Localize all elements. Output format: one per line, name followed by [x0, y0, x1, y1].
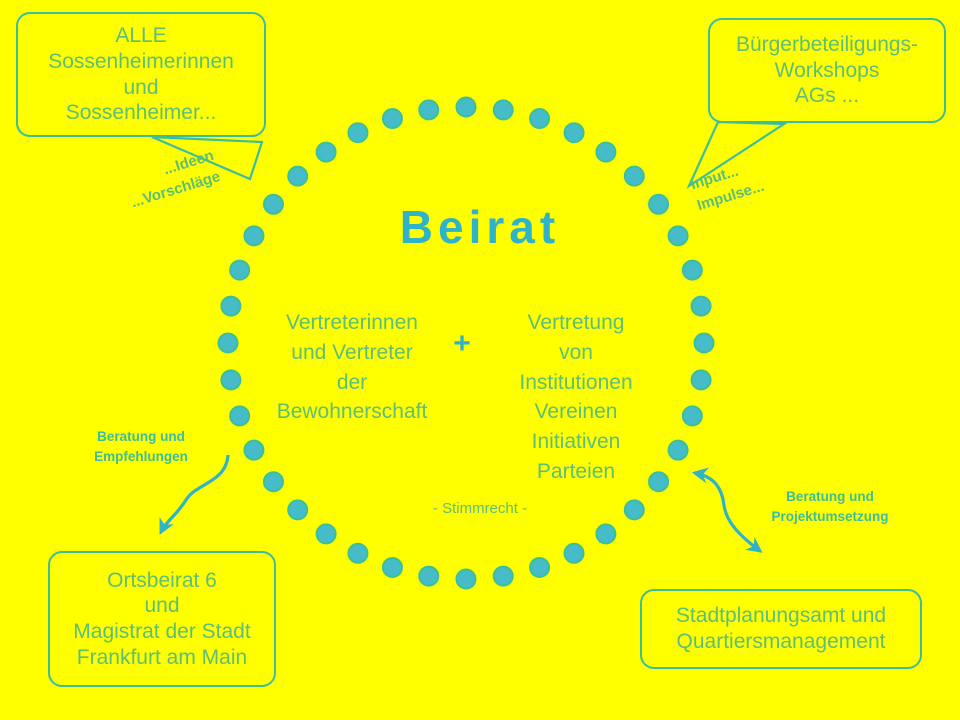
bubble-left-line-1: ALLE	[115, 23, 166, 49]
ortsbeirat-line-3: Magistrat der Stadt	[73, 619, 250, 645]
bubble-right-line-2: Workshops	[775, 58, 880, 84]
beratung-r-line-1: Beratung und	[746, 487, 914, 507]
stadtplanungsamt-box[interactable]: Stadtplanungsamt und Quartiersmanagement	[640, 589, 922, 669]
ortsbeirat-box[interactable]: Ortsbeirat 6 und Magistrat der Stadt Fra…	[48, 551, 276, 687]
col-right-line-5: Initiativen	[492, 427, 660, 457]
bubble-left-line-3: und	[123, 75, 158, 101]
diagram-canvas: ALLE Sossenheimerinnen und Sossenheimer.…	[0, 0, 960, 720]
vertreterinnen-column: Vertreterinnen und Vertreter der Bewohne…	[268, 308, 436, 427]
col-left-line-2: und Vertreter	[268, 338, 436, 368]
institutionen-column: Vertretung von Institutionen Vereinen In…	[492, 308, 660, 487]
bubble-right-line-1: Bürgerbeteiligungs-	[736, 32, 918, 58]
col-right-line-6: Parteien	[492, 457, 660, 487]
beratung-empfehlungen-note: Beratung und Empfehlungen	[78, 427, 204, 468]
buergerbeteiligung-bubble[interactable]: Bürgerbeteiligungs- Workshops AGs ...	[708, 18, 946, 123]
bubble-left-line-4: Sossenheimer...	[66, 100, 217, 126]
bubble-right-line-3: AGs ...	[795, 83, 859, 109]
stadtplanungsamt-line-1: Stadtplanungsamt und	[676, 603, 886, 629]
ortsbeirat-line-1: Ortsbeirat 6	[107, 568, 217, 594]
ortsbeirat-line-2: und	[144, 593, 179, 619]
col-left-line-4: Bewohnerschaft	[268, 397, 436, 427]
stadtplanungsamt-line-2: Quartiersmanagement	[677, 629, 886, 655]
col-left-line-3: der	[268, 368, 436, 398]
col-left-line-1: Vertreterinnen	[268, 308, 436, 338]
ortsbeirat-line-4: Frankfurt am Main	[77, 645, 247, 671]
col-right-line-1: Vertretung	[492, 308, 660, 338]
bubble-left-line-2: Sossenheimerinnen	[48, 49, 234, 75]
alle-sossenheimer-bubble[interactable]: ALLE Sossenheimerinnen und Sossenheimer.…	[16, 12, 266, 137]
beratung-projektumsetzung-note: Beratung und Projektumsetzung	[746, 487, 914, 528]
col-right-line-4: Vereinen	[492, 397, 660, 427]
beratung-l-line-2: Empfehlungen	[78, 447, 204, 467]
col-right-line-3: Institutionen	[492, 368, 660, 398]
beratung-r-line-2: Projektumsetzung	[746, 507, 914, 527]
plus-icon: +	[440, 327, 484, 361]
beratung-l-line-1: Beratung und	[78, 427, 204, 447]
col-right-line-2: von	[492, 338, 660, 368]
